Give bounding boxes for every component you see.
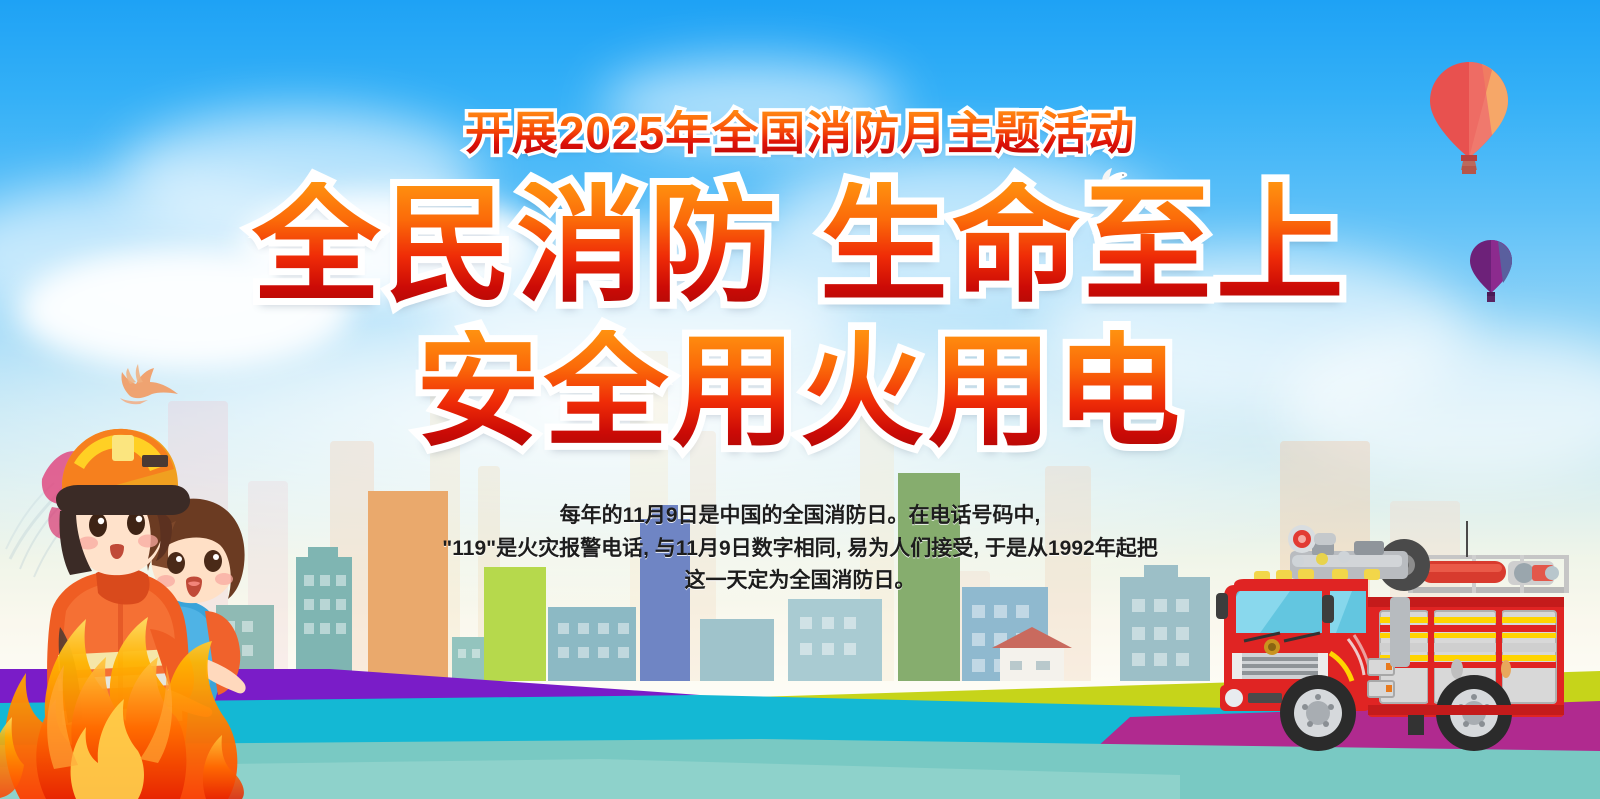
poster-subtitle: 开展2025年全国消防月主题活动 xyxy=(0,110,1600,156)
body-line: "119"是火灾报警电话, 与11月9日数字相同, 易为人们接受, 于是从199… xyxy=(300,533,1300,566)
poster-body-text: 每年的11月9日是中国的全国消防日。在电话号码中, "119"是火灾报警电话, … xyxy=(300,500,1300,598)
fire-engine-illustration xyxy=(1172,499,1592,769)
body-line: 这一天定为全国消防日。 xyxy=(300,565,1300,598)
fire-truck-svg xyxy=(1172,499,1592,769)
headline-line1-wrap: 全民消防 生命至上 全民消防 生命至上 xyxy=(0,182,1600,322)
headline-line1: 全民消防 生命至上 xyxy=(0,182,1600,310)
firefighter-rescuing-child-illustration xyxy=(0,359,300,799)
poster-canvas: 开展2025年全国消防月主题活动 开展2025年全国消防月主题活动 全民消防 生… xyxy=(0,0,1600,799)
body-line: 每年的11月9日是中国的全国消防日。在电话号码中, xyxy=(300,500,1300,533)
firefighter-svg xyxy=(0,359,300,799)
